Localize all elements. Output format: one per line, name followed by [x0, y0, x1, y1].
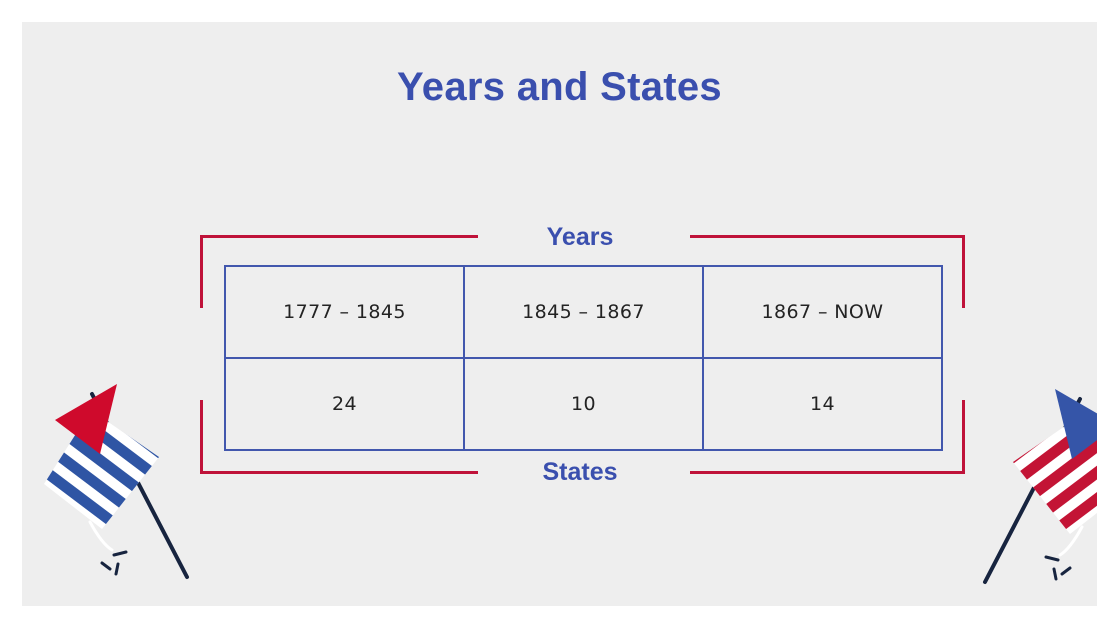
bracket-top-right-horizontal	[690, 235, 965, 238]
bracket-bottom-right-vertical	[962, 400, 965, 474]
firework-rocket-right	[977, 367, 1097, 606]
bracket-bottom-left-horizontal	[200, 471, 478, 474]
cell-years-3: 1867 – NOW	[703, 266, 942, 358]
page-title: Years and States	[22, 67, 1097, 107]
cell-states-3: 14	[703, 358, 942, 450]
table-row-years: 1777 – 1845 1845 – 1867 1867 – NOW	[225, 266, 942, 358]
rocket-sparks-right	[1046, 557, 1070, 579]
bracket-top-left-vertical	[200, 235, 203, 308]
bracket-bottom-right-horizontal	[690, 471, 965, 474]
table-block: Years States 1777 – 1845 1845 – 1867 186…	[180, 212, 980, 482]
slide-canvas: Years and States Years States 1777 – 184…	[22, 22, 1097, 606]
firework-rocket-left	[30, 362, 205, 606]
rocket-sparks-left	[102, 552, 126, 574]
cell-years-1: 1777 – 1845	[225, 266, 464, 358]
table-row-states: 24 10 14	[225, 358, 942, 450]
table-bottom-label: States	[460, 460, 700, 485]
bracket-top-left-horizontal	[200, 235, 478, 238]
cell-states-2: 10	[464, 358, 703, 450]
years-states-table: 1777 – 1845 1845 – 1867 1867 – NOW 24 10…	[224, 265, 943, 451]
bracket-top-right-vertical	[962, 235, 965, 308]
table-top-label: Years	[460, 225, 700, 250]
cell-states-1: 24	[225, 358, 464, 450]
cell-years-2: 1845 – 1867	[464, 266, 703, 358]
